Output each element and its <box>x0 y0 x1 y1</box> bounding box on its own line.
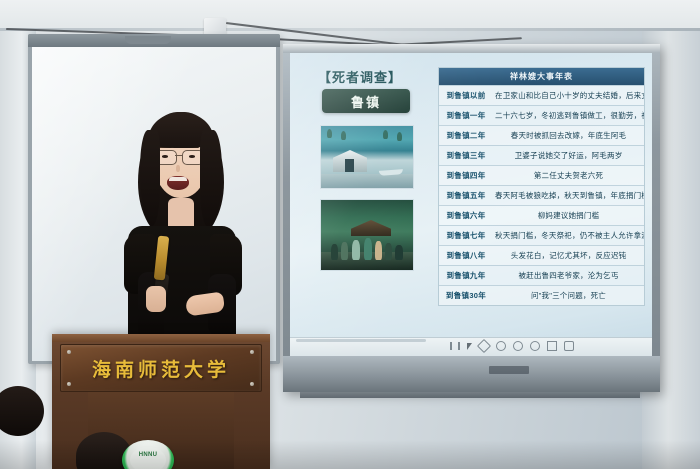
table-cell-event: 秋天捐门槛，冬天祭祀，仍不被主人允许拿酒杯筷子 <box>493 228 644 243</box>
display-screen[interactable]: 【死者调查】 鲁镇 <box>290 53 652 356</box>
slide-image-crowd <box>320 199 414 271</box>
nameplate-screw-tl <box>67 350 71 354</box>
ceiling <box>0 0 700 30</box>
place-plaque: 鲁镇 <box>322 89 410 113</box>
table-cell-event: 问"我"三个问题，死亡 <box>493 288 644 303</box>
shape-icon[interactable] <box>530 341 540 351</box>
table-row: 到鲁镇二年春天时被抓回去改嫁，年底生阿毛 <box>439 125 644 145</box>
presenter-eye-right <box>189 155 195 158</box>
table-cell-event: 春天阿毛被狼吃掉，秋天到鲁镇，年底捐门槛 <box>493 188 644 203</box>
nameplate-screw-br <box>250 382 254 386</box>
presenter-eye-left <box>162 155 168 158</box>
table-row: 到鲁镇七年秋天捐门槛，冬天祭祀，仍不被主人允许拿酒杯筷子 <box>439 225 644 245</box>
foreground-shadow <box>0 440 700 469</box>
events-table-body: 到鲁镇以前在卫家山和比自己小十岁的丈夫结婚，后来丈到鲁镇一年二十六七岁，冬初逃到… <box>439 85 644 305</box>
slide-heading: 【死者调查】 <box>318 67 402 86</box>
table-cell-time: 到鲁镇30年 <box>439 288 493 303</box>
eraser-icon[interactable] <box>513 341 523 351</box>
table-cell-event: 被赶出鲁四老爷家，沦为乞丐 <box>493 268 644 283</box>
presenter-nose <box>176 165 180 172</box>
table-row: 到鲁镇八年头发花白，记忆尤其坏，反应迟钝 <box>439 245 644 265</box>
display-bottom-bezel <box>283 356 660 392</box>
lectern-top-edge <box>52 334 270 342</box>
lectern-nameplate: 海南师范大学 <box>60 344 262 392</box>
more-icon[interactable] <box>564 341 574 351</box>
pause-icon[interactable] <box>450 342 460 350</box>
presentation-slide: 【死者调查】 鲁镇 <box>290 53 652 337</box>
display-stand-bar <box>300 392 640 398</box>
table-cell-event: 头发花白，记忆尤其坏，反应迟钝 <box>493 248 644 263</box>
place-plaque-label: 鲁镇 <box>351 92 381 111</box>
square-icon[interactable] <box>547 341 557 351</box>
table-cell-time: 到鲁镇一年 <box>439 108 493 123</box>
table-cell-time: 到鲁镇五年 <box>439 188 493 203</box>
events-table-title: 祥林嫂大事年表 <box>439 68 644 85</box>
classroom-photo: 【死者调查】 鲁镇 <box>0 0 700 469</box>
table-cell-time: 到鲁镇七年 <box>439 228 493 243</box>
pen-icon[interactable] <box>477 339 491 353</box>
nameplate-screw-bl <box>67 382 71 386</box>
table-row: 到鲁镇30年问"我"三个问题，死亡 <box>439 285 644 305</box>
table-cell-time: 到鲁镇二年 <box>439 128 493 143</box>
table-cell-event: 柳妈建议她捐门槛 <box>493 208 644 223</box>
table-cell-time: 到鲁镇三年 <box>439 148 493 163</box>
table-row: 到鲁镇五年春天阿毛被狼吃掉，秋天到鲁镇，年底捐门槛 <box>439 185 644 205</box>
toolbar-icons[interactable] <box>450 341 574 351</box>
table-cell-event: 春天时被抓回去改嫁，年底生阿毛 <box>493 128 644 143</box>
table-cell-event: 二十六七岁，冬初逃到鲁镇做工，很勤劳，祝福 <box>493 108 644 123</box>
nameplate-screw-tr <box>250 350 254 354</box>
toolbar-slide-strip <box>296 339 426 342</box>
table-row: 到鲁镇以前在卫家山和比自己小十岁的丈夫结婚，后来丈 <box>439 85 644 105</box>
table-cell-event: 第二任丈夫贺老六死 <box>493 168 644 183</box>
table-row: 到鲁镇一年二十六七岁，冬初逃到鲁镇做工，很勤劳，祝福 <box>439 105 644 125</box>
table-cell-event: 卫婆子说她交了好运，阿毛两岁 <box>493 148 644 163</box>
glasses-bridge <box>175 155 182 156</box>
table-cell-time: 到鲁镇八年 <box>439 248 493 263</box>
table-row: 到鲁镇六年柳妈建议她捐门槛 <box>439 205 644 225</box>
lectern-nameplate-text: 海南师范大学 <box>92 355 230 382</box>
whiteboard-clip <box>125 36 171 44</box>
display-top-bezel <box>283 44 660 53</box>
table-cell-time: 到鲁镇以前 <box>439 88 493 103</box>
presenter-teeth <box>169 177 187 181</box>
table-cell-event: 在卫家山和比自己小十岁的丈夫结婚，后来丈 <box>493 88 644 103</box>
table-row: 到鲁镇九年被赶出鲁四老爷家，沦为乞丐 <box>439 265 644 285</box>
display-brand-logo <box>489 366 529 374</box>
table-row: 到鲁镇四年第二任丈夫贺老六死 <box>439 165 644 185</box>
slide-image-village <box>320 125 414 189</box>
table-cell-time: 到鲁镇四年 <box>439 168 493 183</box>
table-cell-time: 到鲁镇六年 <box>439 208 493 223</box>
events-table: 祥林嫂大事年表 到鲁镇以前在卫家山和比自己小十岁的丈夫结婚，后来丈到鲁镇一年二十… <box>438 67 645 306</box>
presenter-hand-left <box>146 286 166 312</box>
table-row: 到鲁镇三年卫婆子说她交了好运，阿毛两岁 <box>439 145 644 165</box>
pointer-icon[interactable] <box>467 343 472 350</box>
highlighter-icon[interactable] <box>496 341 506 351</box>
table-cell-time: 到鲁镇九年 <box>439 268 493 283</box>
